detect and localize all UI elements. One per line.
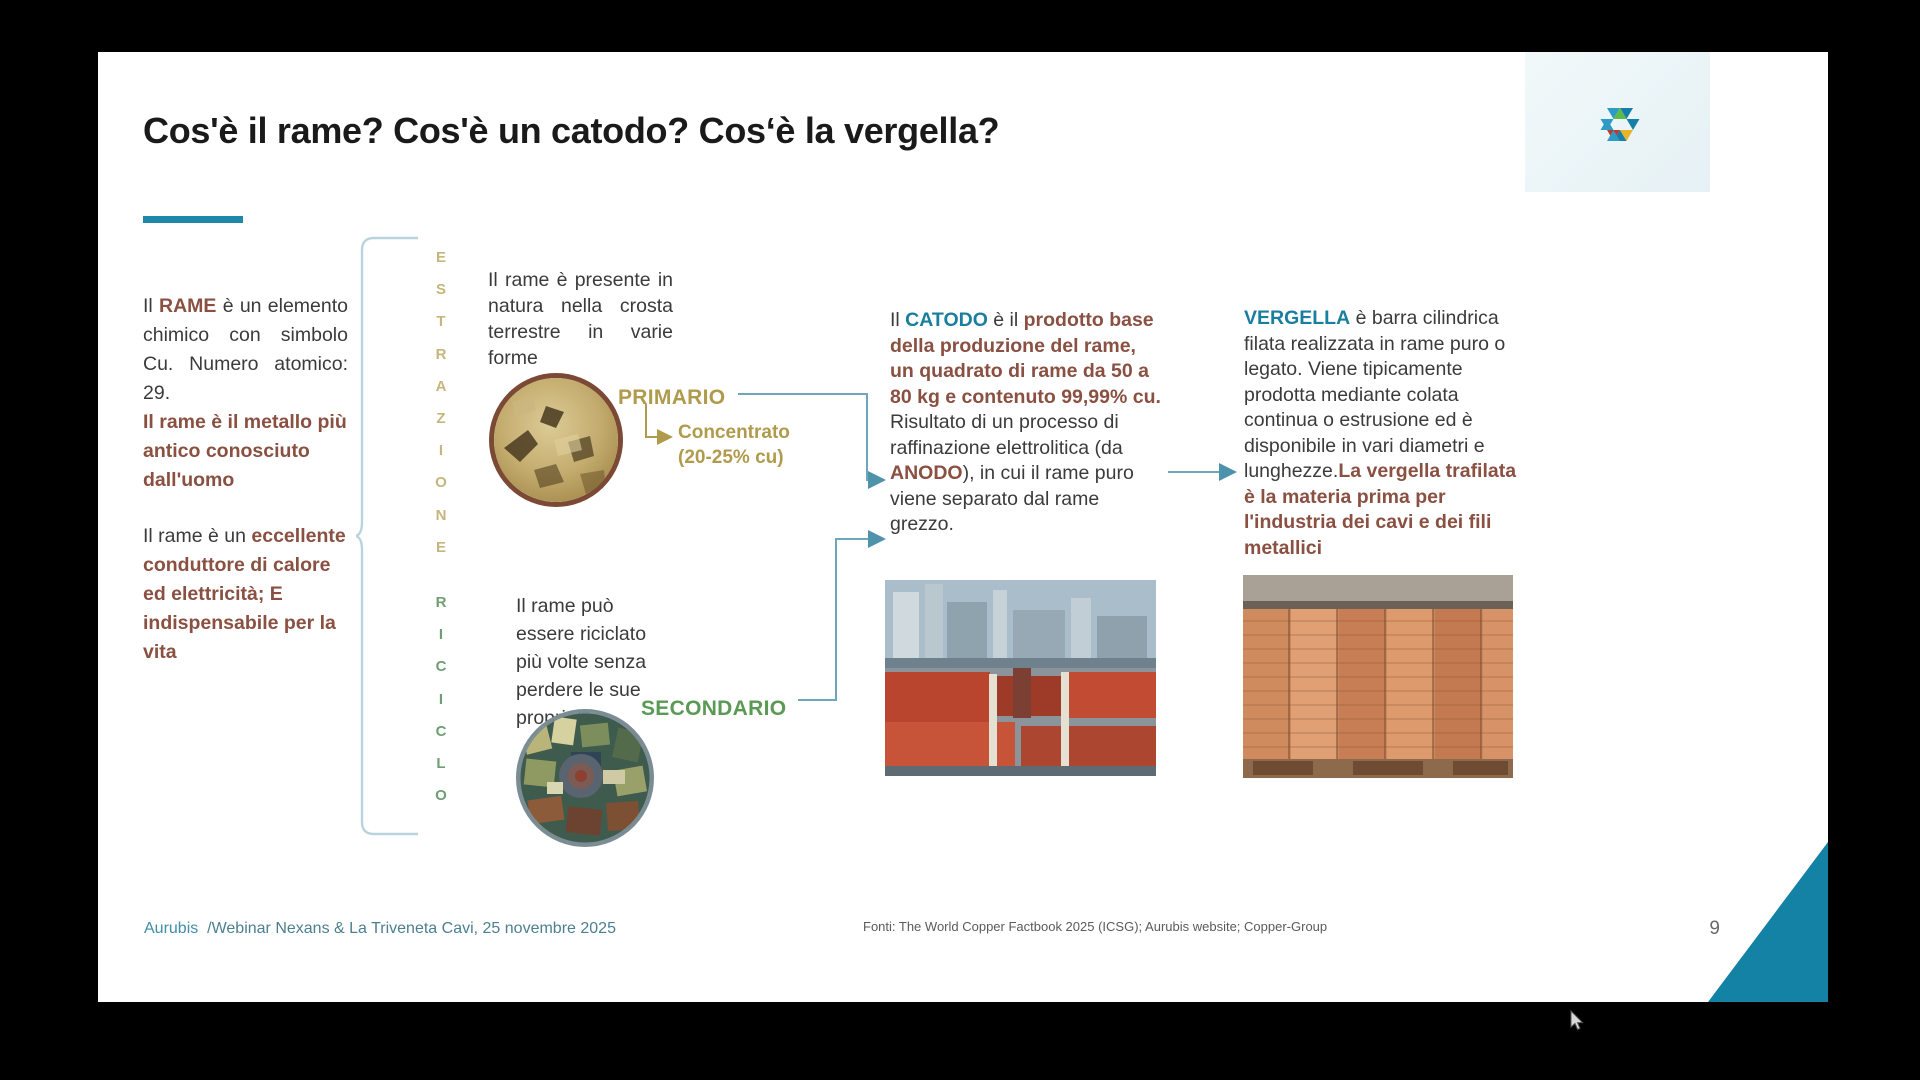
rame-definition: Il RAME è un elemento chimico con simbol… <box>143 292 348 408</box>
tag-secondario: SECONDARIO <box>641 697 786 721</box>
vertical-label-riciclo: RICICLO <box>428 587 454 812</box>
vertical-letter: O <box>428 780 454 812</box>
footer-brand: Aurubis <box>144 920 198 937</box>
electronic-scrap-photo <box>516 709 654 847</box>
vertical-letter: R <box>428 339 454 371</box>
vertical-letter: I <box>428 684 454 716</box>
vertical-letter: C <box>428 716 454 748</box>
vertical-letter: N <box>428 500 454 532</box>
footer-sources: Fonti: The World Copper Factbook 2025 (I… <box>863 919 1327 934</box>
copper-rod-coils-photo <box>1243 575 1513 778</box>
aurubis-logo-icon <box>1587 94 1653 160</box>
vertical-letter: I <box>428 619 454 651</box>
footer-event: /Webinar Nexans & La Triveneta Cavi, 25 … <box>207 920 616 937</box>
vertical-letter: L <box>428 748 454 780</box>
vertical-letter: O <box>428 467 454 499</box>
left-text-column: Il RAME è un elemento chimico con simbol… <box>143 292 348 667</box>
rame-oldest-metal-highlight: Il rame è il metallo più antico conosciu… <box>143 408 348 495</box>
page-title: Cos'è il rame? Cos'è un catodo? Cos‘è la… <box>143 110 999 152</box>
accent-bar <box>143 216 243 223</box>
vergella-keyword: VERGELLA <box>1244 307 1350 329</box>
rame-keyword: RAME <box>159 295 216 317</box>
vertical-letter: E <box>428 242 454 274</box>
catodo-mid: è il <box>988 309 1024 331</box>
vertical-letter: C <box>428 651 454 683</box>
vertical-letter: E <box>428 532 454 564</box>
mouse-cursor <box>1570 1010 1586 1032</box>
vertical-letter: I <box>428 435 454 467</box>
concentrato-label: Concentrato <box>678 420 790 445</box>
tag-primario: PRIMARIO <box>618 386 725 410</box>
rame-def-pre: Il <box>143 295 159 317</box>
catodo-keyword: CATODO <box>905 309 988 331</box>
vertical-letter: A <box>428 371 454 403</box>
catodo-text-column: Il CATODO è il prodotto base della produ… <box>890 308 1162 538</box>
vergella-paragraph: VERGELLA è barra cilindrica filata reali… <box>1244 306 1529 561</box>
vergella-body: è barra cilindrica filata realizzata in … <box>1244 307 1505 482</box>
rame-conductor-paragraph: Il rame è un eccellente conduttore di ca… <box>143 522 348 667</box>
vertical-letter: T <box>428 306 454 338</box>
primary-source-paragraph: Il rame è presente in natura nella crost… <box>488 267 673 371</box>
catodo-body-pre: Risultato di un processo di raffinazione… <box>890 411 1123 459</box>
concentrato-percentage: (20-25% cu) <box>678 445 790 470</box>
catodo-paragraph: Il CATODO è il prodotto base della produ… <box>890 308 1162 538</box>
vertical-letter: Z <box>428 403 454 435</box>
anodo-keyword: ANODO <box>890 462 963 484</box>
vergella-text-column: VERGELLA è barra cilindrica filata reali… <box>1244 306 1529 561</box>
footer-left: Aurubis /Webinar Nexans & La Triveneta C… <box>144 920 616 938</box>
catodo-pre: Il <box>890 309 905 331</box>
grouping-brace <box>356 236 418 836</box>
copper-cathode-plant-photo <box>885 580 1156 776</box>
presentation-slide: Cos'è il rame? Cos'è un catodo? Cos‘è la… <box>98 52 1828 1002</box>
primary-source-text: Il rame è presente in natura nella crost… <box>488 267 673 371</box>
vertical-label-estrazione: ESTRAZIONE <box>428 242 454 564</box>
copper-ore-photo <box>489 373 623 507</box>
corner-decoration <box>1708 842 1828 1002</box>
tag-concentrato: Concentrato (20-25% cu) <box>678 420 790 470</box>
vertical-letter: S <box>428 274 454 306</box>
conductor-pre: Il rame è un <box>143 525 251 547</box>
vertical-letter: R <box>428 587 454 619</box>
